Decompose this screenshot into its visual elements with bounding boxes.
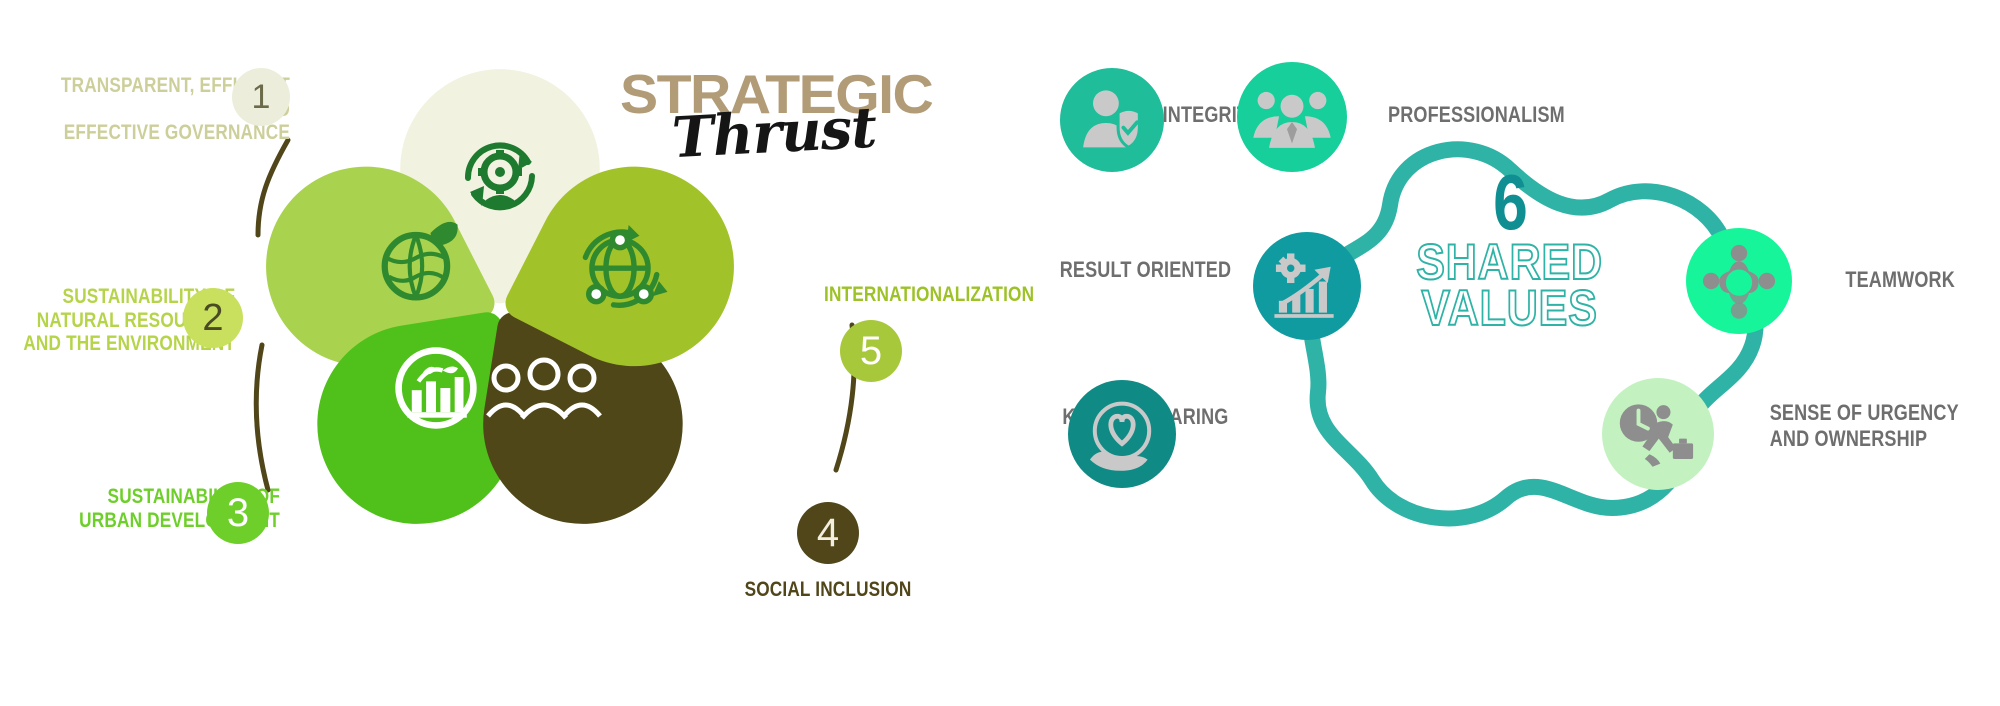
thrust-badge-5-number: 5 (860, 329, 882, 374)
value-label-sense-of-urgency: SENSE OF URGENCY AND OWNERSHIP (1770, 400, 2000, 453)
people-group-icon (488, 338, 600, 450)
infographic-canvas: STRATEGIC Thrust TRANSPARENT, EFFICIENT … (0, 0, 2000, 706)
thrust-badge-1[interactable]: 1 (232, 68, 290, 126)
city-plant-icon (380, 332, 492, 444)
thrust-badge-3[interactable]: 3 (207, 482, 269, 544)
thrust-badge-2-number: 2 (202, 297, 223, 340)
thrust-badge-2[interactable]: 2 (183, 288, 243, 348)
thrust-badge-5[interactable]: 5 (840, 320, 902, 382)
person-shield-icon (1074, 82, 1150, 158)
value-label-professionalism: PROFESSIONALISM (1388, 103, 1716, 128)
center-number: 6 (1493, 165, 1526, 239)
strategic-thrust-panel: STRATEGIC Thrust TRANSPARENT, EFFICIENT … (0, 0, 1000, 706)
value-label-result-oriented: RESULT ORIENTED (969, 258, 1231, 283)
shared-values-panel: 6 SHARED VALUES INTEGRITY (1000, 0, 2000, 706)
clock-running-person-icon (1615, 395, 1701, 473)
shared-values-center: 6 SHARED VALUES (1395, 165, 1625, 385)
globe-leaf-icon (362, 204, 474, 316)
thrust-label-4: SOCIAL INCLUSION (723, 578, 933, 602)
globe-network-icon (564, 210, 676, 322)
center-line-2: VALUES (1422, 285, 1598, 331)
value-node-professionalism[interactable] (1237, 62, 1347, 172)
strategic-thrust-title: STRATEGIC Thrust (620, 62, 980, 172)
value-node-sense-of-urgency[interactable] (1602, 378, 1714, 490)
value-label-teamwork: TEAMWORK (1845, 268, 2000, 293)
value-node-teamwork[interactable] (1686, 228, 1792, 334)
people-team-icon (1249, 82, 1335, 152)
thrust-badge-4[interactable]: 4 (797, 502, 859, 564)
thrust-badge-1-number: 1 (252, 78, 271, 117)
result-oriented-icon-wrap (1253, 232, 1361, 340)
thrust-badge-3-number: 3 (227, 491, 249, 536)
thrust-badge-4-number: 4 (817, 511, 839, 556)
team-circle-icon (1698, 240, 1780, 322)
title-script-word: Thrust (670, 95, 877, 172)
hand-heart-icon (1082, 394, 1162, 474)
value-node-integrity[interactable] (1060, 68, 1164, 172)
connector-2-3 (256, 345, 268, 490)
gear-growth-chart-icon (1270, 249, 1344, 323)
value-node-kind-and-caring[interactable] (1068, 380, 1176, 488)
center-line-1: SHARED (1417, 239, 1604, 285)
